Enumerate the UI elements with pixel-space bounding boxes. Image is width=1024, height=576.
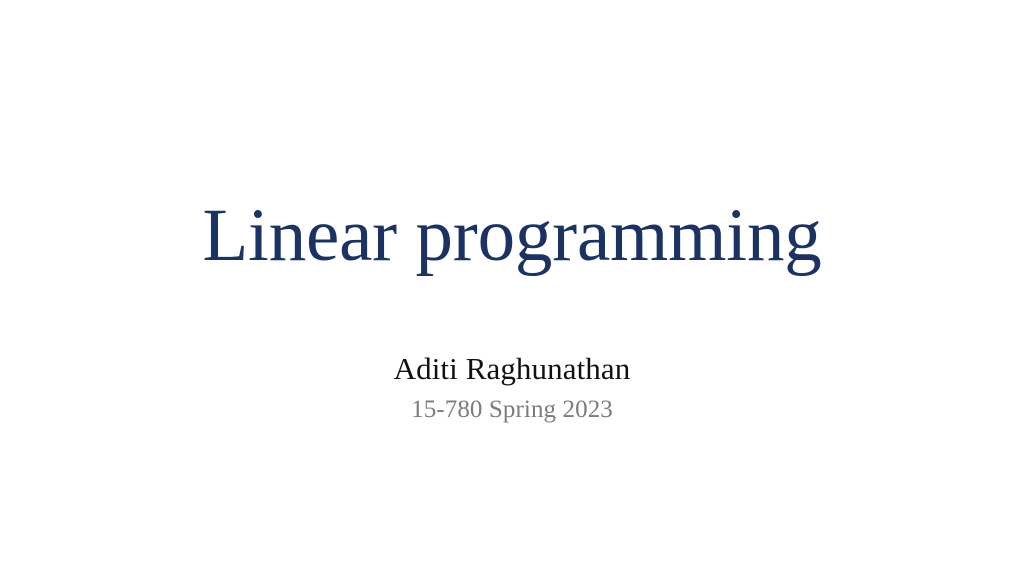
presentation-title-slide: Linear programming Aditi Raghunathan 15-…: [0, 0, 1024, 576]
page-title: Linear programming: [92, 196, 932, 276]
course-term-label: 15-780 Spring 2023: [92, 395, 932, 425]
subtitle-placeholder: Aditi Raghunathan 15-780 Spring 2023: [92, 350, 932, 425]
title-placeholder: Linear programming: [92, 196, 932, 276]
presenter-name: Aditi Raghunathan: [92, 350, 932, 388]
slide-content-area: Linear programming Aditi Raghunathan 15-…: [0, 0, 1024, 576]
